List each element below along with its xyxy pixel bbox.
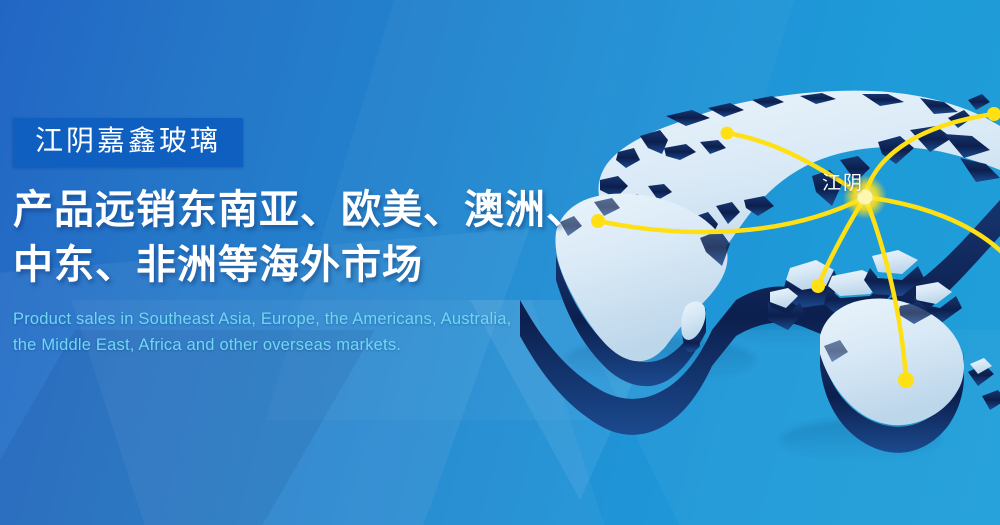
subtitle: Product sales in Southeast Asia, Europe,… (13, 307, 613, 358)
europe-north-node (721, 127, 734, 140)
hub-city-label: 江阴 (822, 168, 864, 195)
southeast-asia-node (811, 279, 825, 293)
promo-banner: 江阴 江阴嘉鑫玻璃 产品远销东南亚、欧美、澳洲、 中东、非洲等海外市场 Prod… (0, 0, 1000, 525)
subtitle-line-1: Product sales in Southeast Asia, Europe,… (13, 307, 613, 333)
banner-text-block: 江阴嘉鑫玻璃 产品远销东南亚、欧美、澳洲、 中东、非洲等海外市场 Product… (13, 118, 613, 358)
headline-line-2: 中东、非洲等海外市场 (13, 238, 613, 293)
subtitle-line-2: the Middle East, Africa and other overse… (13, 333, 613, 359)
australia-node (898, 372, 914, 388)
headline-line-1: 产品远销东南亚、欧美、澳洲、 (13, 183, 613, 238)
americas-east-node (987, 107, 1000, 121)
brand-name-badge: 江阴嘉鑫玻璃 (13, 118, 243, 167)
headline: 产品远销东南亚、欧美、澳洲、 中东、非洲等海外市场 (13, 183, 613, 293)
